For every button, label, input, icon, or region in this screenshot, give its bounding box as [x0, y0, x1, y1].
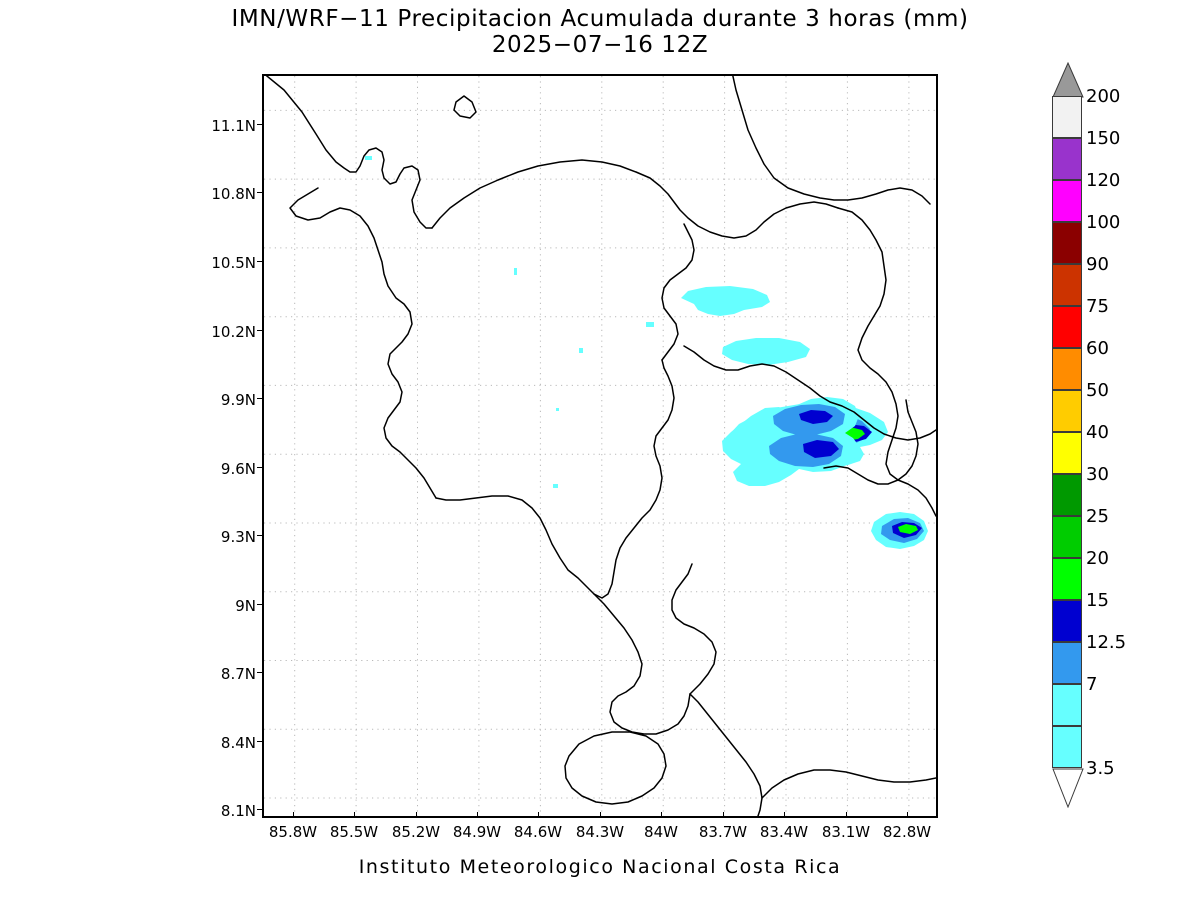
- figure-root: IMN/WRF−11 Precipitacion Acumulada duran…: [0, 0, 1200, 900]
- map-plot-area: [262, 74, 938, 818]
- colorbar-label: 20: [1086, 550, 1109, 568]
- colorbar-cell-60[interactable]: [1052, 348, 1082, 390]
- y-tick-label: 9N: [196, 597, 256, 615]
- colorbar-label: 200: [1086, 88, 1120, 106]
- colorbar-cell-3p5[interactable]: [1052, 726, 1082, 768]
- x-tick-mark: [293, 812, 294, 818]
- colorbar-cell-7[interactable]: [1052, 684, 1082, 726]
- colorbar-label: 7: [1086, 676, 1097, 694]
- colorbar-cell-12p5[interactable]: [1052, 642, 1082, 684]
- colorbar-label: 15: [1086, 592, 1109, 610]
- chart-title: IMN/WRF−11 Precipitacion Acumulada duran…: [0, 6, 1200, 58]
- precip-speck-central-valley: [514, 268, 517, 275]
- colorbar-cell-75[interactable]: [1052, 306, 1082, 348]
- x-tick-mark: [723, 812, 724, 818]
- y-tick-label: 9.3N: [196, 528, 256, 546]
- x-tick-label: 84.9W: [442, 823, 512, 841]
- precip-cluster-limon-central: [722, 397, 859, 486]
- colorbar-label: 60: [1086, 340, 1109, 358]
- colorbar-label: 40: [1086, 424, 1109, 442]
- y-tick-mark: [257, 467, 263, 468]
- x-tick-mark: [416, 812, 417, 818]
- border-nicaragua-costarica: [432, 160, 838, 238]
- y-tick-mark: [257, 330, 263, 331]
- y-tick-label: 8.1N: [196, 802, 256, 820]
- colorbar-label: 12.5: [1086, 634, 1126, 652]
- colorbar-cell-25[interactable]: [1052, 516, 1082, 558]
- colorbar-under-arrow: [1052, 768, 1084, 808]
- precip-speck-offshore-small: [646, 322, 654, 327]
- y-tick-label: 10.2N: [196, 323, 256, 341]
- x-tick-label: 84.6W: [503, 823, 573, 841]
- precip-speck-guanacaste: [365, 156, 372, 160]
- coastline-osa-outline: [565, 732, 666, 804]
- y-tick-label: 10.5N: [196, 254, 256, 272]
- colorbar-label: 90: [1086, 256, 1109, 274]
- colorbar-cell-20[interactable]: [1052, 558, 1082, 600]
- chart-title-subtitle: 2025−07−16 12Z: [0, 32, 1200, 58]
- y-tick-label: 9.9N: [196, 391, 256, 409]
- colorbar-label: 30: [1086, 466, 1109, 484]
- colorbar-over-arrow: [1052, 62, 1084, 98]
- coastline-nicoya-peninsula: [436, 360, 674, 598]
- y-tick-label: 11.1N: [196, 117, 256, 135]
- colorbar-cell-120[interactable]: [1052, 180, 1082, 222]
- coastline-nicaragua-lake-west: [290, 188, 436, 498]
- y-tick-mark: [257, 124, 263, 125]
- precip-speck-nicoya-gulf: [579, 348, 583, 353]
- border-costarica-panama: [690, 694, 762, 816]
- y-tick-label: 8.7N: [196, 665, 256, 683]
- precip-speck-pacific-a: [553, 484, 558, 488]
- y-tick-mark: [257, 261, 263, 262]
- lake-island-ometepe: [454, 96, 476, 118]
- x-tick-label: 84.3W: [565, 823, 635, 841]
- x-tick-mark: [354, 812, 355, 818]
- x-tick-mark: [846, 812, 847, 818]
- x-tick-mark: [538, 812, 539, 818]
- precip-patch-caribbean-offshore-b: [722, 338, 810, 365]
- colorbar-cell-150[interactable]: [1052, 138, 1082, 180]
- coastline-golfo-dulce: [672, 564, 716, 694]
- x-tick-label: 84W: [626, 823, 696, 841]
- x-tick-label: 83.4W: [749, 823, 819, 841]
- y-tick-mark: [257, 398, 263, 399]
- precip-patch-caribbean-offshore-a: [681, 286, 770, 316]
- x-tick-label: 83.1W: [811, 823, 881, 841]
- precip-speck-pacific-b: [556, 408, 559, 411]
- colorbar-label: 50: [1086, 382, 1109, 400]
- y-tick-mark: [257, 535, 263, 536]
- coastline-osa-peninsula: [594, 594, 690, 734]
- colorbar-label: 75: [1086, 298, 1109, 316]
- colorbar-cell-40[interactable]: [1052, 432, 1082, 474]
- y-tick-mark: [257, 604, 263, 605]
- x-tick-label: 83.7W: [688, 823, 758, 841]
- x-tick-mark: [661, 812, 662, 818]
- coastline-nicaragua-caribbean-ne: [732, 76, 930, 204]
- x-tick-label: 82.8W: [872, 823, 942, 841]
- colorbar-label: 3.5: [1086, 760, 1115, 778]
- x-tick-label: 85.5W: [319, 823, 389, 841]
- colorbar-cell-200-plus[interactable]: [1052, 96, 1082, 138]
- colorbar-label: 25: [1086, 508, 1109, 526]
- coastline-costarica-caribbean: [838, 208, 936, 516]
- colorbar-cell-30[interactable]: [1052, 474, 1082, 516]
- colorbar-cell-100[interactable]: [1052, 222, 1082, 264]
- x-tick-label: 85.2W: [381, 823, 451, 841]
- colorbar-cell-15[interactable]: [1052, 600, 1082, 642]
- x-tick-mark: [907, 812, 908, 818]
- colorbar-label: 100: [1086, 214, 1120, 232]
- x-tick-mark: [784, 812, 785, 818]
- coastline-nicaragua-pacific: [264, 76, 432, 228]
- y-tick-label: 10.8N: [196, 185, 256, 203]
- y-tick-mark: [257, 741, 263, 742]
- y-tick-label: 8.4N: [196, 734, 256, 752]
- colorbar-cell-90[interactable]: [1052, 264, 1082, 306]
- colorbar-label: 120: [1086, 172, 1120, 190]
- coastline-panama-pacific: [762, 770, 936, 798]
- x-tick-label: 85.8W: [258, 823, 328, 841]
- y-tick-mark: [257, 192, 263, 193]
- precip-contour-fills: [365, 156, 936, 549]
- y-tick-mark: [257, 672, 263, 673]
- chart-title-line1: IMN/WRF−11 Precipitacion Acumulada duran…: [0, 6, 1200, 32]
- y-tick-mark: [257, 809, 263, 810]
- colorbar-cell-50[interactable]: [1052, 390, 1082, 432]
- figure-credit: Instituto Meteorologico Nacional Costa R…: [0, 856, 1200, 878]
- y-tick-label: 9.6N: [196, 460, 256, 478]
- map-svg: [264, 76, 936, 816]
- x-tick-mark: [477, 812, 478, 818]
- x-tick-mark: [600, 812, 601, 818]
- colorbar-label: 150: [1086, 130, 1120, 148]
